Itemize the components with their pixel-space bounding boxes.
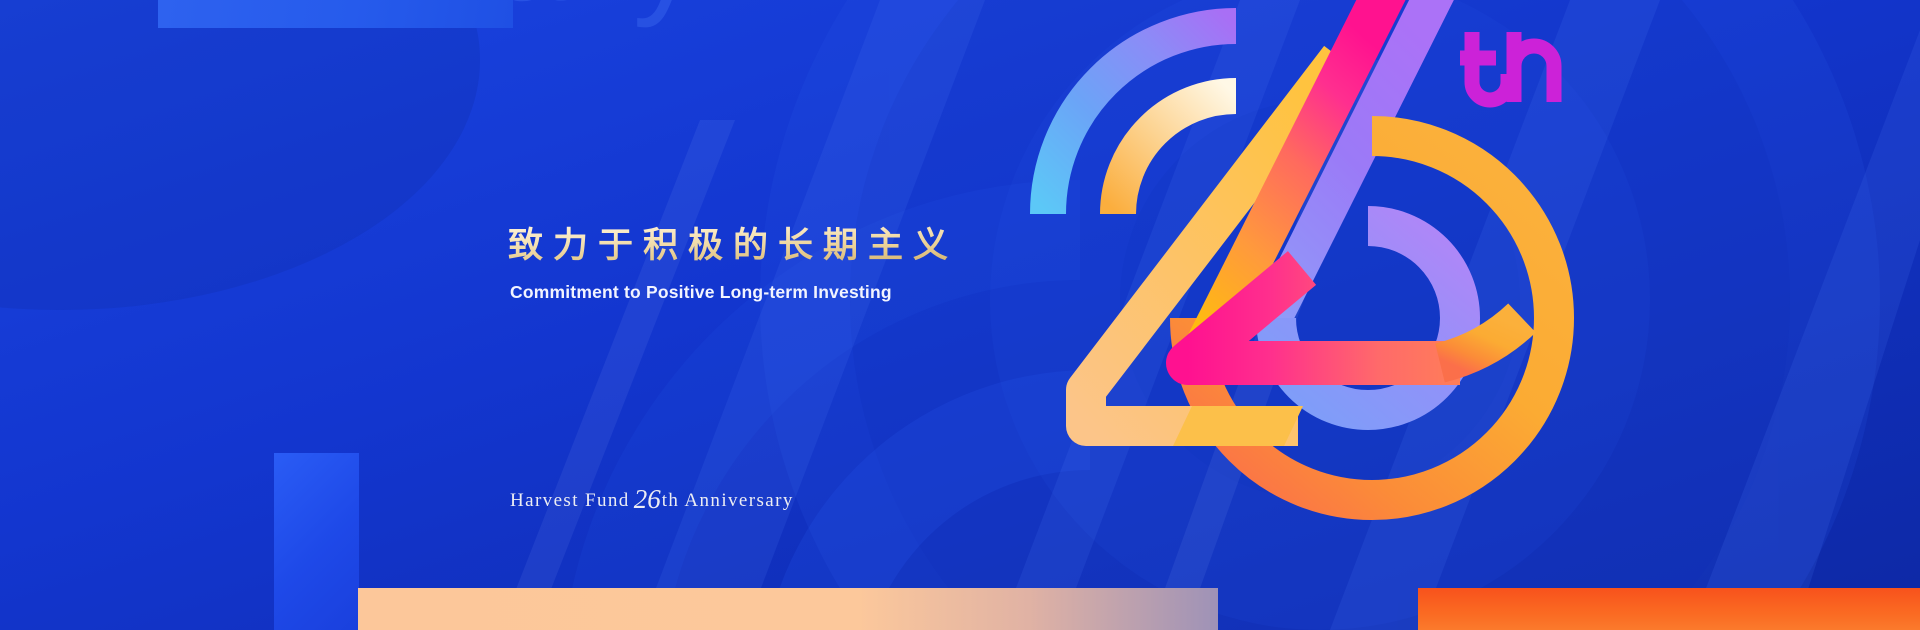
logo-two-base-tab bbox=[1173, 406, 1303, 446]
bottom-orange-bar bbox=[1418, 588, 1920, 630]
left-vertical-accent-bar bbox=[274, 453, 359, 630]
anniversary-banner: nniversary 致力于积极的长期主义 Commitment to Posi… bbox=[0, 0, 1920, 630]
bottom-peach-bar bbox=[358, 588, 1218, 630]
logo-th-superscript bbox=[1452, 30, 1562, 110]
headline-chinese: 致力于积极的长期主义 bbox=[508, 224, 958, 268]
signature-number: 26 bbox=[630, 484, 662, 515]
top-left-accent-rect bbox=[158, 0, 513, 28]
signature-line: Harvest Fund 26 th Anniversary bbox=[510, 482, 794, 513]
subheadline-english: Commitment to Positive Long-term Investi… bbox=[510, 282, 958, 303]
signature-suffix: th Anniversary bbox=[662, 490, 794, 512]
headline-block: 致力于积极的长期主义 Commitment to Positive Long-t… bbox=[508, 224, 958, 303]
signature-brand: Harvest Fund bbox=[510, 490, 630, 512]
th-glyph bbox=[1452, 30, 1562, 110]
